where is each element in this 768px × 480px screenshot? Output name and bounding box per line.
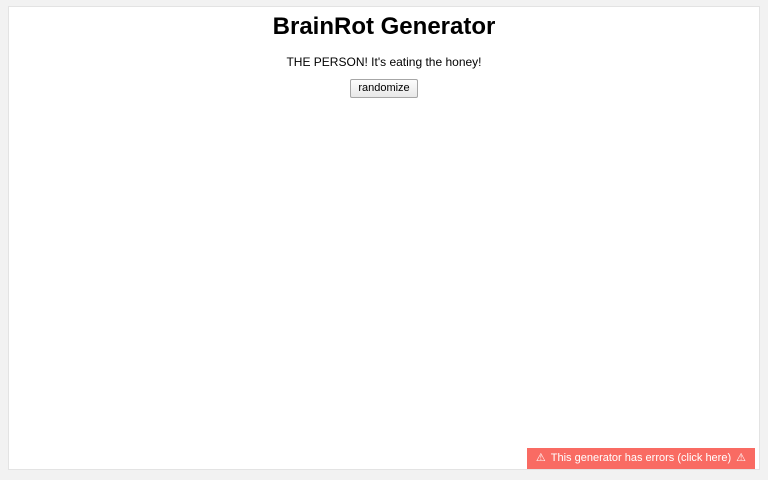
generator-container: BrainRot Generator THE PERSON! It's eati… <box>9 7 759 98</box>
browser-viewport: BrainRot Generator THE PERSON! It's eati… <box>0 0 768 480</box>
error-banner[interactable]: ⚠ This generator has errors (click here)… <box>527 448 755 469</box>
page-title: BrainRot Generator <box>9 12 759 42</box>
randomize-button[interactable]: randomize <box>350 79 417 98</box>
randomize-button-row: randomize <box>9 78 759 98</box>
warning-triangle-icon-right: ⚠ <box>736 453 746 464</box>
page-panel: BrainRot Generator THE PERSON! It's eati… <box>8 6 760 470</box>
generated-phrase-text: THE PERSON! It's eating the honey! <box>9 55 759 69</box>
error-banner-label: This generator has errors (click here) <box>551 448 731 469</box>
warning-triangle-icon-left: ⚠ <box>536 453 546 464</box>
